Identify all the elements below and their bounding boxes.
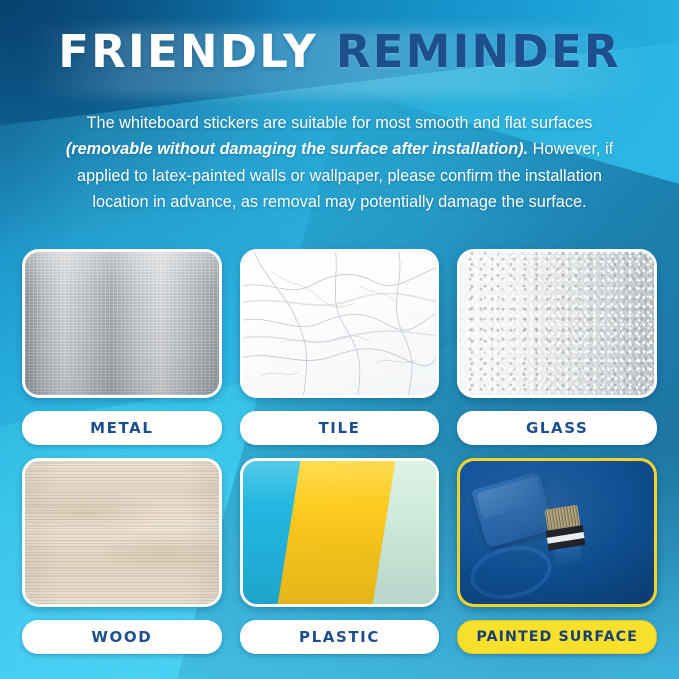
surface-card-tile[interactable]: TILE bbox=[240, 249, 440, 445]
intro-text-emphasis: (removable without damaging the surface … bbox=[66, 140, 528, 158]
surface-swatch-plastic bbox=[240, 458, 440, 607]
surface-label-pill-plastic: PLASTIC bbox=[240, 620, 440, 654]
surface-label-plastic: PLASTIC bbox=[299, 628, 380, 646]
surface-label-pill-wood: WOOD bbox=[22, 620, 222, 654]
surface-label-metal: METAL bbox=[90, 419, 153, 437]
blue-painted-wall-texture bbox=[460, 461, 654, 604]
surface-grid: METAL bbox=[22, 249, 657, 654]
surface-swatch-metal bbox=[22, 249, 222, 398]
frosted-glass-texture bbox=[460, 252, 654, 395]
surface-label-painted-surface: PAINTED SURFACE bbox=[476, 629, 638, 645]
surface-label-glass: GLASS bbox=[526, 419, 588, 437]
surface-swatch-glass bbox=[457, 249, 657, 398]
page-header: FRIENDLY REMINDER bbox=[0, 29, 679, 74]
surface-label-pill-painted-surface: PAINTED SURFACE bbox=[457, 620, 657, 654]
white-marble-texture bbox=[243, 252, 437, 395]
brushed-metal-texture bbox=[25, 252, 219, 395]
surface-card-painted-surface[interactable]: PAINTED SURFACE bbox=[457, 458, 657, 654]
glass-sparkle-overlay bbox=[460, 252, 654, 395]
surface-card-wood[interactable]: WOOD bbox=[22, 458, 222, 654]
surface-swatch-painted-surface bbox=[457, 458, 657, 607]
intro-paragraph: The whiteboard stickers are suitable for… bbox=[52, 110, 627, 216]
surface-card-glass[interactable]: GLASS bbox=[457, 249, 657, 445]
painted-vignette bbox=[460, 461, 654, 604]
marble-veins-icon bbox=[243, 252, 437, 395]
plastic-gloss bbox=[243, 461, 437, 604]
title-word-reminder: REMINDER bbox=[336, 25, 621, 78]
colored-plastic-texture bbox=[243, 461, 437, 604]
light-wood-grain-texture bbox=[25, 461, 219, 604]
infographic-page: FRIENDLY REMINDER The whiteboard sticker… bbox=[0, 0, 679, 679]
surface-label-pill-glass: GLASS bbox=[457, 411, 657, 445]
surface-label-tile: TILE bbox=[318, 419, 360, 437]
surface-swatch-tile bbox=[240, 249, 440, 398]
surface-card-plastic[interactable]: PLASTIC bbox=[240, 458, 440, 654]
page-title: FRIENDLY REMINDER bbox=[0, 29, 679, 74]
surface-swatch-wood bbox=[22, 458, 222, 607]
title-word-friendly: FRIENDLY bbox=[58, 25, 318, 78]
intro-text-part-1: The whiteboard stickers are suitable for… bbox=[87, 114, 593, 132]
surface-label-wood: WOOD bbox=[91, 628, 152, 646]
surface-card-metal[interactable]: METAL bbox=[22, 249, 222, 445]
surface-label-pill-metal: METAL bbox=[22, 411, 222, 445]
surface-label-pill-tile: TILE bbox=[240, 411, 440, 445]
